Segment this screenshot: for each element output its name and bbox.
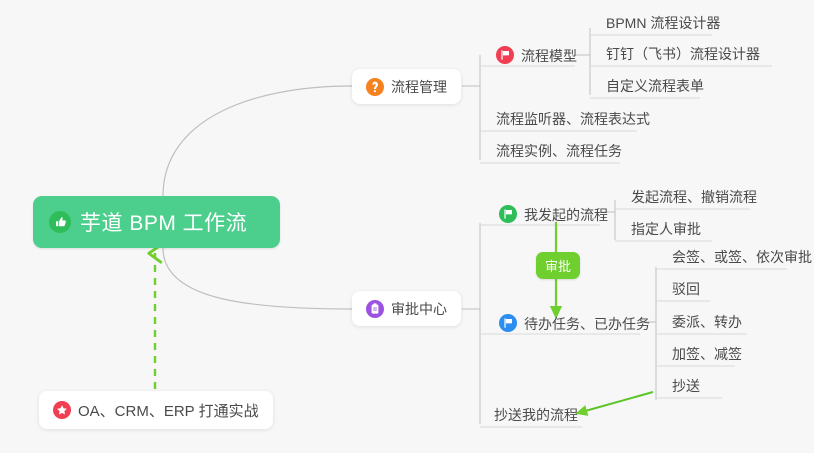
node-dingding-designer-label: 钉钉（飞书）流程设计器 <box>606 46 760 62</box>
annotation-shenpi-label: 审批 <box>545 259 571 274</box>
node-daiban-yiban-label: 待办任务、已办任务 <box>524 316 650 332</box>
node-liuchengguanli[interactable]: 流程管理 <box>352 69 461 104</box>
node-weipai-zhuanban-label: 委派、转办 <box>672 314 742 330</box>
mindmap-canvas: 芋道 BPM 工作流 流程管理 审批中心 <box>0 0 814 453</box>
node-jiaqian-jianqian[interactable]: 加签、减签 <box>666 346 748 366</box>
node-wofaqidelc-label: 我发起的流程 <box>524 207 608 223</box>
node-jiaqian-jianqian-label: 加签、减签 <box>672 346 742 362</box>
node-liuchengmoxing[interactable]: 流程模型 <box>490 46 583 68</box>
node-liuchengjiantingqi-label: 流程监听器、流程表达式 <box>496 111 650 127</box>
node-liuchengshili[interactable]: 流程实例、流程任务 <box>490 143 628 163</box>
node-shenpizhongxin[interactable]: 审批中心 <box>352 291 461 326</box>
node-custom-form-label: 自定义流程表单 <box>606 78 704 94</box>
node-liuchengguanli-label: 流程管理 <box>391 77 447 97</box>
node-chaosong-wodeliucheng[interactable]: 抄送我的流程 <box>488 407 584 427</box>
node-chaosong-wodeliucheng-label: 抄送我的流程 <box>494 407 578 423</box>
node-custom-form[interactable]: 自定义流程表单 <box>600 78 710 98</box>
node-dingding-designer[interactable]: 钉钉（飞书）流程设计器 <box>600 46 766 66</box>
annotation-shenpi-pill[interactable]: 审批 <box>536 252 580 279</box>
node-chaosong-label: 抄送 <box>672 378 700 394</box>
root-label: 芋道 BPM 工作流 <box>80 207 247 237</box>
flag-icon <box>496 46 514 64</box>
node-zhidingren-shenpi-label: 指定人审批 <box>631 221 701 237</box>
node-weipai-zhuanban[interactable]: 委派、转办 <box>666 314 748 334</box>
node-bohui-label: 驳回 <box>672 281 700 297</box>
flow-arrow-chaosong <box>578 392 653 413</box>
node-liuchengjiantingqi[interactable]: 流程监听器、流程表达式 <box>490 111 656 131</box>
thumbs-up-icon <box>49 211 71 233</box>
flag-icon <box>499 205 517 223</box>
link-root-to-liuchengguanli <box>163 86 352 196</box>
link-root-to-shenpizhongxin <box>163 248 352 309</box>
flag-icon <box>499 314 517 332</box>
node-liuchengshili-label: 流程实例、流程任务 <box>496 143 622 159</box>
lightbulb-pin-icon <box>366 78 384 96</box>
node-bpmn-designer[interactable]: BPMN 流程设计器 <box>600 15 726 35</box>
star-icon <box>53 401 71 419</box>
clipboard-icon <box>366 300 384 318</box>
node-faqi-chexiao[interactable]: 发起流程、撤销流程 <box>625 189 763 209</box>
node-chaosong[interactable]: 抄送 <box>666 378 706 398</box>
root-node[interactable]: 芋道 BPM 工作流 <box>33 196 280 248</box>
node-liuchengmoxing-label: 流程模型 <box>521 48 577 64</box>
node-shenpizhongxin-label: 审批中心 <box>391 299 447 319</box>
node-oa-crm-erp[interactable]: OA、CRM、ERP 打通实战 <box>39 391 273 429</box>
node-daiban-yiban[interactable]: 待办任务、已办任务 <box>493 314 656 336</box>
node-zhidingren-shenpi[interactable]: 指定人审批 <box>625 221 707 241</box>
node-faqi-chexiao-label: 发起流程、撤销流程 <box>631 189 757 205</box>
node-huiqian-huoqian-label: 会签、或签、依次审批 <box>672 249 812 265</box>
node-wofaqidelc[interactable]: 我发起的流程 <box>493 205 614 227</box>
node-bpmn-designer-label: BPMN 流程设计器 <box>606 15 720 31</box>
node-oa-crm-erp-label: OA、CRM、ERP 打通实战 <box>78 400 259 421</box>
node-huiqian-huoqian[interactable]: 会签、或签、依次审批 <box>666 249 814 269</box>
node-bohui[interactable]: 驳回 <box>666 281 706 301</box>
